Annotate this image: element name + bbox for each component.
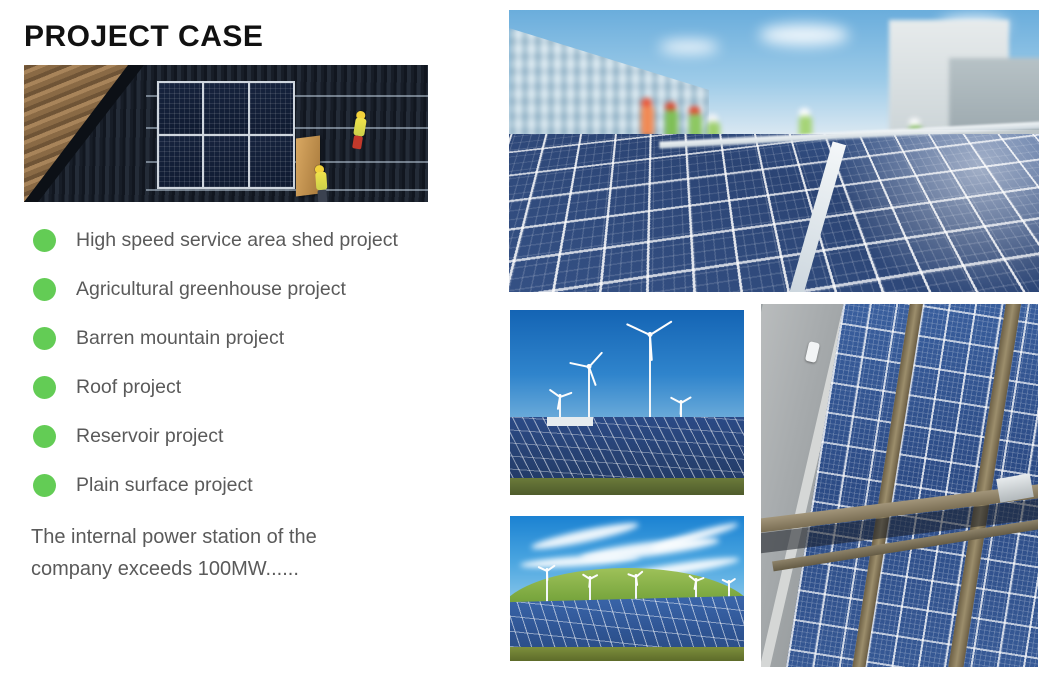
page-title: PROJECT CASE <box>24 20 263 54</box>
wind-turbine <box>572 364 606 424</box>
list-item[interactable]: Barren mountain project <box>24 314 464 363</box>
photo-scene <box>510 516 744 661</box>
bullet-dot-icon <box>33 425 56 448</box>
bullet-dot-icon <box>33 327 56 350</box>
aerial-roof-installation-photo <box>24 65 428 202</box>
inverter-cabinet <box>547 417 593 426</box>
wind-turbine <box>582 576 598 604</box>
solar-panel-module <box>204 83 247 134</box>
summary-line-2: company exceeds 100MW...... <box>31 553 451 585</box>
wind-turbine-solar-farm-photo <box>510 310 744 495</box>
photo-scene <box>510 310 744 495</box>
rooftop-solar-closeup-photo <box>509 10 1039 292</box>
roof-surface <box>24 65 428 202</box>
solar-panel-module <box>250 83 293 134</box>
turbine-blade <box>546 571 548 581</box>
solar-panel-module <box>250 136 293 187</box>
photo-scene <box>509 10 1039 292</box>
photo-scene <box>761 304 1038 667</box>
panel-glare <box>819 130 1039 292</box>
green-hills-solar-array-photo <box>510 516 744 661</box>
bullet-dot-icon <box>33 278 56 301</box>
turbine-blade <box>728 583 730 591</box>
list-item-label: Roof project <box>76 376 181 399</box>
solar-panel-module <box>159 136 202 187</box>
solar-panel-module <box>204 136 247 187</box>
bullet-dot-icon <box>33 376 56 399</box>
wind-turbine <box>630 332 670 420</box>
solar-panel-module <box>159 83 202 134</box>
list-item-label: High speed service area shed project <box>76 229 398 252</box>
list-item-label: Agricultural greenhouse project <box>76 278 346 301</box>
project-list: High speed service area shed project Agr… <box>24 216 464 510</box>
list-item[interactable]: High speed service area shed project <box>24 216 464 265</box>
cloud <box>759 24 849 46</box>
summary-line-1: The internal power station of the <box>31 521 451 553</box>
grass-foreground <box>510 478 744 495</box>
aerial-rooftop-array-photo <box>761 304 1038 667</box>
turbine-blade <box>635 577 638 586</box>
list-item[interactable]: Plain surface project <box>24 461 464 510</box>
grass-foreground <box>510 647 744 662</box>
project-case-slide: PROJECT CASE <box>0 0 1060 689</box>
list-item-label: Barren mountain project <box>76 327 284 350</box>
sky-background <box>510 310 744 427</box>
wind-turbine <box>538 568 556 602</box>
hi-vis-vest <box>641 106 654 136</box>
solar-panel-array <box>157 81 295 189</box>
list-item[interactable]: Reservoir project <box>24 412 464 461</box>
worker-legs <box>352 135 363 149</box>
turbine-mast <box>588 366 590 424</box>
list-item-label: Reservoir project <box>76 425 223 448</box>
cloud <box>659 40 719 54</box>
roof-seam <box>146 189 428 191</box>
hi-vis-vest <box>315 172 327 191</box>
turbine-blade <box>649 335 653 361</box>
list-item-label: Plain surface project <box>76 474 253 497</box>
list-item[interactable]: Roof project <box>24 363 464 412</box>
bullet-dot-icon <box>33 474 56 497</box>
worker-legs <box>317 190 327 202</box>
summary-text: The internal power station of the compan… <box>31 521 451 585</box>
list-item[interactable]: Agricultural greenhouse project <box>24 265 464 314</box>
bullet-dot-icon <box>33 229 56 252</box>
turbine-blade <box>680 403 682 415</box>
